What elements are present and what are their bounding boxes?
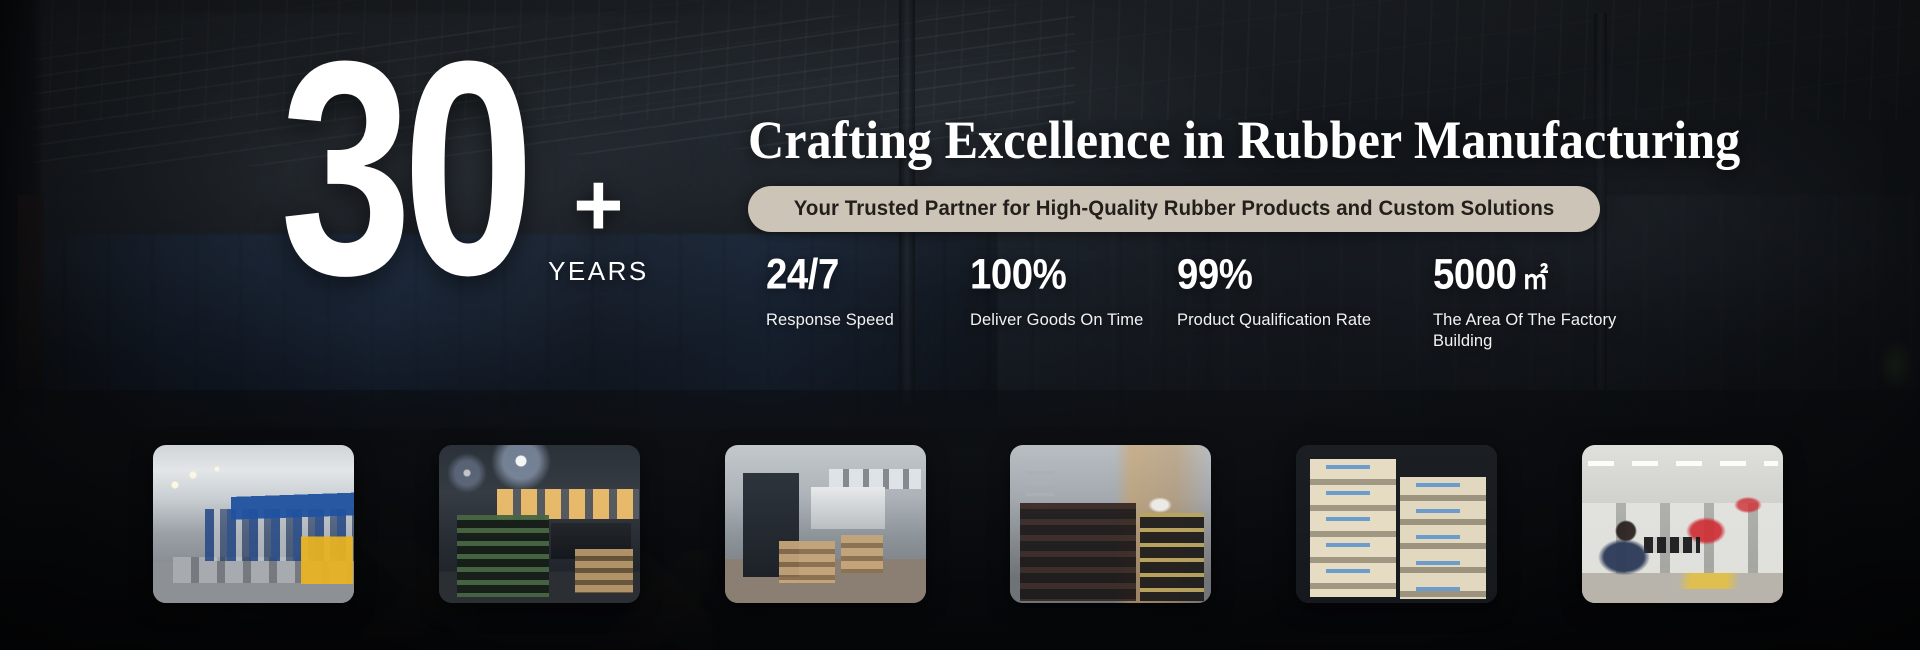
stat-value: 5000㎡ — [1433, 254, 1635, 296]
gallery-thumbnail-5[interactable] — [1296, 445, 1497, 603]
stats-row: 24/7 Response Speed 100% Deliver Goods O… — [748, 256, 1748, 352]
stat-factory-area: 5000㎡ The Area Of The Factory Building — [1413, 256, 1643, 352]
stat-label: Product Qualification Rate — [1177, 309, 1406, 330]
stat-label: Response Speed — [766, 309, 943, 330]
stat-label: Deliver Goods On Time — [970, 309, 1157, 330]
stat-value: 99% — [1177, 254, 1404, 296]
subtitle-pill: Your Trusted Partner for High-Quality Ru… — [748, 186, 1600, 232]
workshop-machinery-photo — [725, 445, 926, 603]
stat-value: 100% — [970, 254, 1155, 296]
years-number: 30 — [280, 43, 525, 293]
factory-production-line-photo — [153, 445, 354, 603]
raw-material-sacks-photo — [1296, 445, 1497, 603]
stat-value-unit: ㎡ — [1522, 263, 1547, 295]
gallery-thumbnail-4[interactable] — [1010, 445, 1211, 603]
storage-racks-photo — [1010, 445, 1211, 603]
stat-label: The Area Of The Factory Building — [1433, 309, 1637, 352]
gallery-thumbnail-6[interactable] — [1582, 445, 1783, 603]
warehouse-racks-photo — [439, 445, 640, 603]
gallery-thumbnail-1[interactable] — [153, 445, 354, 603]
gallery-thumbnail-2[interactable] — [439, 445, 640, 603]
years-label: YEARS — [548, 256, 649, 287]
stat-deliver-on-time: 100% Deliver Goods On Time — [948, 256, 1163, 330]
gallery-thumbnail-3[interactable] — [725, 445, 926, 603]
stat-value-number: 5000 — [1433, 252, 1517, 299]
page-title: Crafting Excellence in Rubber Manufactur… — [748, 112, 1678, 168]
years-experience-block: 30 + YEARS — [280, 88, 649, 293]
hero-banner: 30 + YEARS Crafting Excellence in Rubber… — [0, 0, 1920, 650]
stat-value: 24/7 — [766, 254, 941, 296]
stat-response-speed: 24/7 Response Speed — [748, 256, 948, 330]
inspection-booths-photo — [1582, 445, 1783, 603]
hero-content: 30 + YEARS Crafting Excellence in Rubber… — [0, 0, 1920, 650]
stat-qualification-rate: 99% Product Qualification Rate — [1163, 256, 1413, 330]
years-plus-sign: + — [573, 169, 623, 241]
years-side-group: + YEARS — [548, 171, 649, 287]
hero-text-column: Crafting Excellence in Rubber Manufactur… — [748, 112, 1748, 352]
factory-photo-strip — [153, 445, 1783, 603]
subtitle-text: Your Trusted Partner for High-Quality Ru… — [794, 197, 1555, 221]
